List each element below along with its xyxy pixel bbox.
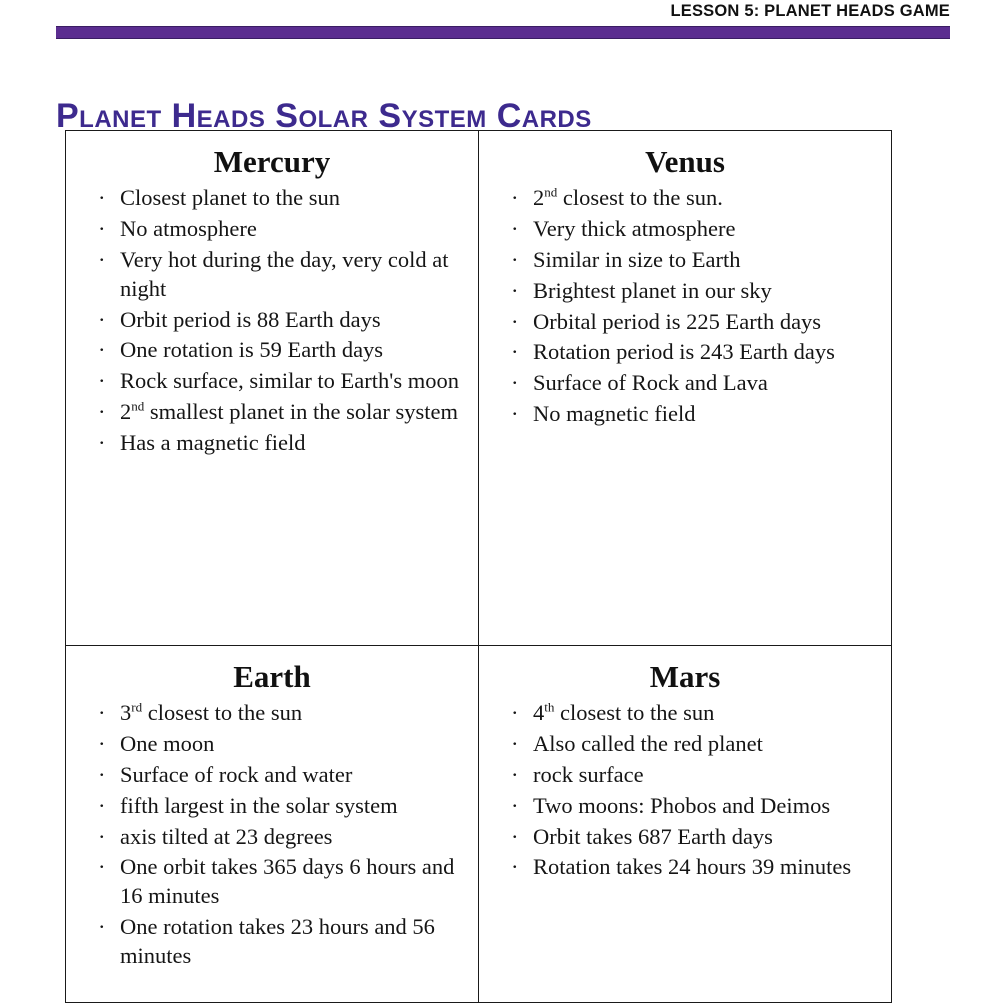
fact-ordinal-suffix: rd xyxy=(131,700,142,715)
fact-text: Brightest planet in our sky xyxy=(533,278,772,303)
fact-text: One rotation is 59 Earth days xyxy=(120,337,383,362)
planet-card-mars: Mars ·4th closest to the sun·Also called… xyxy=(479,646,891,1002)
list-item: ·One rotation takes 23 hours and 56 minu… xyxy=(76,913,468,971)
list-item: ·Rotation period is 243 Earth days xyxy=(489,338,881,367)
solar-system-cards-table: Mercury ·Closest planet to the sun·No at… xyxy=(65,130,892,1003)
fact-text: Has a magnetic field xyxy=(120,430,306,455)
card-cell-venus: Venus ·2nd closest to the sun.·Very thic… xyxy=(479,131,892,646)
table-row: Earth ·3rd closest to the sun·One moon·S… xyxy=(66,646,892,1003)
fact-text: Surface of rock and water xyxy=(120,762,352,787)
list-item: ·Rock surface, similar to Earth's moon xyxy=(76,367,468,396)
card-title: Mercury xyxy=(76,145,468,178)
list-item: ·Has a magnetic field xyxy=(76,429,468,458)
bullet-icon: · xyxy=(98,699,106,728)
fact-ordinal-number: 4 xyxy=(533,700,544,725)
list-item: ·Brightest planet in our sky xyxy=(489,277,881,306)
list-item: ·Surface of rock and water xyxy=(76,761,468,790)
fact-text: One rotation takes 23 hours and 56 minut… xyxy=(120,914,435,968)
bullet-icon: · xyxy=(511,184,519,213)
fact-text: Orbital period is 225 Earth days xyxy=(533,309,821,334)
fact-ordinal-suffix: nd xyxy=(131,399,144,414)
fact-text: One moon xyxy=(120,731,214,756)
fact-ordinal-suffix: th xyxy=(544,700,554,715)
fact-list-mercury: ·Closest planet to the sun·No atmosphere… xyxy=(76,184,468,457)
list-item: ·2nd smallest planet in the solar system xyxy=(76,398,468,427)
fact-text: axis tilted at 23 degrees xyxy=(120,824,332,849)
planet-card-mercury: Mercury ·Closest planet to the sun·No at… xyxy=(66,131,478,645)
card-cell-earth: Earth ·3rd closest to the sun·One moon·S… xyxy=(66,646,479,1003)
fact-text: One orbit takes 365 days 6 hours and 16 … xyxy=(120,854,454,908)
list-item: ·Orbital period is 225 Earth days xyxy=(489,308,881,337)
bullet-icon: · xyxy=(98,367,106,396)
card-cell-mars: Mars ·4th closest to the sun·Also called… xyxy=(479,646,892,1003)
list-item: ·fifth largest in the solar system xyxy=(76,792,468,821)
bullet-icon: · xyxy=(98,792,106,821)
bullet-icon: · xyxy=(511,400,519,429)
fact-text: Surface of Rock and Lava xyxy=(533,370,768,395)
card-title: Venus xyxy=(489,145,881,178)
list-item: ·Very thick atmosphere xyxy=(489,215,881,244)
list-item: ·Rotation takes 24 hours 39 minutes xyxy=(489,853,881,882)
fact-ordinal-number: 3 xyxy=(120,700,131,725)
bullet-icon: · xyxy=(98,306,106,335)
bullet-icon: · xyxy=(98,246,106,275)
list-item: ·Similar in size to Earth xyxy=(489,246,881,275)
fact-text: closest to the sun xyxy=(142,700,302,725)
fact-text: smallest planet in the solar system xyxy=(144,399,458,424)
card-cell-mercury: Mercury ·Closest planet to the sun·No at… xyxy=(66,131,479,646)
list-item: ·One moon xyxy=(76,730,468,759)
fact-ordinal-suffix: nd xyxy=(544,185,557,200)
fact-list-venus: ·2nd closest to the sun.·Very thick atmo… xyxy=(489,184,881,428)
table-row: Mercury ·Closest planet to the sun·No at… xyxy=(66,131,892,646)
bullet-icon: · xyxy=(98,853,106,882)
header-rule-bar xyxy=(56,26,950,39)
list-item: ·2nd closest to the sun. xyxy=(489,184,881,213)
bullet-icon: · xyxy=(98,398,106,427)
fact-text: Similar in size to Earth xyxy=(533,247,740,272)
fact-list-earth: ·3rd closest to the sun·One moon·Surface… xyxy=(76,699,468,970)
fact-text: closest to the sun. xyxy=(557,185,723,210)
list-item: ·Orbit takes 687 Earth days xyxy=(489,823,881,852)
bullet-icon: · xyxy=(511,308,519,337)
list-item: ·3rd closest to the sun xyxy=(76,699,468,728)
fact-ordinal-number: 2 xyxy=(120,399,131,424)
bullet-icon: · xyxy=(511,277,519,306)
fact-text: rock surface xyxy=(533,762,644,787)
fact-text: Rotation period is 243 Earth days xyxy=(533,339,835,364)
list-item: ·Closest planet to the sun xyxy=(76,184,468,213)
fact-text: closest to the sun xyxy=(554,700,714,725)
list-item: ·Very hot during the day, very cold at n… xyxy=(76,246,468,304)
bullet-icon: · xyxy=(511,853,519,882)
list-item: ·No atmosphere xyxy=(76,215,468,244)
list-item: ·Surface of Rock and Lava xyxy=(489,369,881,398)
list-item: ·Orbit period is 88 Earth days xyxy=(76,306,468,335)
bullet-icon: · xyxy=(511,699,519,728)
bullet-icon: · xyxy=(98,184,106,213)
bullet-icon: · xyxy=(98,823,106,852)
bullet-icon: · xyxy=(511,369,519,398)
lesson-header-label: LESSON 5: PLANET HEADS GAME xyxy=(670,2,950,21)
list-item: ·Also called the red planet xyxy=(489,730,881,759)
fact-text: fifth largest in the solar system xyxy=(120,793,398,818)
page-header: LESSON 5: PLANET HEADS GAME xyxy=(0,0,1000,46)
bullet-icon: · xyxy=(511,823,519,852)
bullet-icon: · xyxy=(511,761,519,790)
bullet-icon: · xyxy=(98,215,106,244)
planet-card-earth: Earth ·3rd closest to the sun·One moon·S… xyxy=(66,646,478,1002)
bullet-icon: · xyxy=(98,913,106,942)
fact-ordinal-number: 2 xyxy=(533,185,544,210)
bullet-icon: · xyxy=(98,761,106,790)
list-item: ·No magnetic field xyxy=(489,400,881,429)
list-item: ·rock surface xyxy=(489,761,881,790)
fact-text: No atmosphere xyxy=(120,216,257,241)
fact-text: Closest planet to the sun xyxy=(120,185,340,210)
bullet-icon: · xyxy=(511,338,519,367)
fact-text: No magnetic field xyxy=(533,401,695,426)
fact-text: Orbit takes 687 Earth days xyxy=(533,824,773,849)
fact-list-mars: ·4th closest to the sun·Also called the … xyxy=(489,699,881,882)
planet-card-venus: Venus ·2nd closest to the sun.·Very thic… xyxy=(479,131,891,645)
list-item: ·4th closest to the sun xyxy=(489,699,881,728)
list-item: ·One orbit takes 365 days 6 hours and 16… xyxy=(76,853,468,911)
bullet-icon: · xyxy=(511,215,519,244)
fact-text: Orbit period is 88 Earth days xyxy=(120,307,381,332)
list-item: ·One rotation is 59 Earth days xyxy=(76,336,468,365)
fact-text: Two moons: Phobos and Deimos xyxy=(533,793,830,818)
fact-text: Very hot during the day, very cold at ni… xyxy=(120,247,448,301)
card-title: Mars xyxy=(489,660,881,693)
fact-text: Also called the red planet xyxy=(533,731,763,756)
fact-text: Very thick atmosphere xyxy=(533,216,735,241)
bullet-icon: · xyxy=(98,429,106,458)
bullet-icon: · xyxy=(98,730,106,759)
card-title: Earth xyxy=(76,660,468,693)
list-item: ·axis tilted at 23 degrees xyxy=(76,823,468,852)
bullet-icon: · xyxy=(511,246,519,275)
bullet-icon: · xyxy=(511,730,519,759)
fact-text: Rock surface, similar to Earth's moon xyxy=(120,368,459,393)
bullet-icon: · xyxy=(511,792,519,821)
bullet-icon: · xyxy=(98,336,106,365)
fact-text: Rotation takes 24 hours 39 minutes xyxy=(533,854,851,879)
list-item: ·Two moons: Phobos and Deimos xyxy=(489,792,881,821)
